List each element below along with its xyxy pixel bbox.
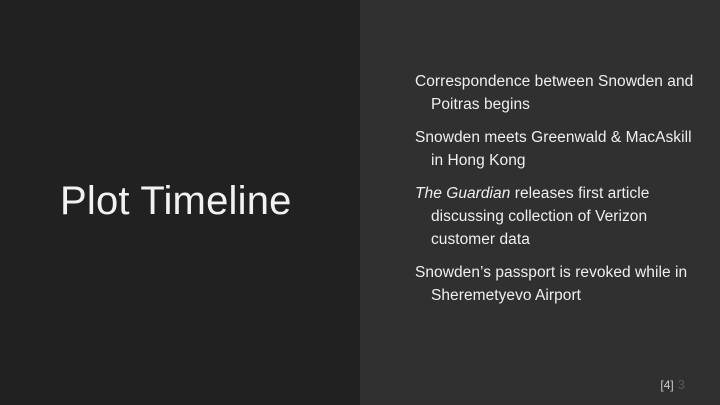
slide-title-panel: Plot Timeline — [0, 0, 360, 405]
list-item-label: Snowden meets Greenwald & MacAskill in H… — [415, 129, 692, 169]
slide-content-panel: Correspondence between Snowden and Poitr… — [360, 0, 720, 405]
list-item-italic-lead: The Guardian — [415, 185, 510, 202]
page-title: Plot Timeline — [0, 178, 312, 224]
timeline-bullet-list: Correspondence between Snowden and Poitr… — [415, 70, 695, 307]
list-item: Snowden meets Greenwald & MacAskill in H… — [415, 126, 695, 172]
citation-reference: [4] — [660, 379, 673, 391]
list-item-label: Correspondence between Snowden and Poitr… — [415, 73, 693, 113]
list-item: The Guardian releases first article disc… — [415, 182, 695, 251]
list-item: Snowden’s passport is revoked while in S… — [415, 261, 695, 307]
slide-number: 3 — [678, 378, 685, 391]
presentation-slide: Plot Timeline Correspondence between Sno… — [0, 0, 720, 405]
slide-footer: [4] 3 — [660, 378, 685, 391]
list-item: Correspondence between Snowden and Poitr… — [415, 70, 695, 116]
list-item-label: Snowden’s passport is revoked while in S… — [415, 264, 687, 304]
